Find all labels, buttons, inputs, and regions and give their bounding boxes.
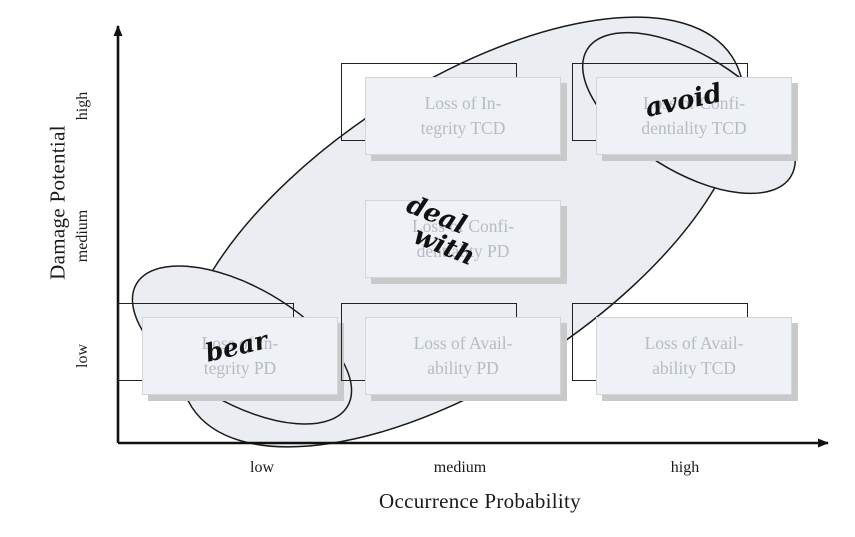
cell-label: Loss of In- tegrity TCD: [421, 91, 506, 142]
x-tick-low: low: [202, 459, 322, 477]
cell-face: Loss of In- tegrity TCD: [365, 77, 561, 155]
x-tick-high: high: [625, 459, 745, 477]
cell-face: Loss of Avail- ability TCD: [596, 317, 792, 395]
y-tick-medium: medium: [74, 191, 92, 281]
y-axis-title: Damage Potential: [46, 73, 71, 333]
y-tick-low: low: [74, 311, 92, 401]
x-tick-medium: medium: [400, 459, 520, 477]
y-tick-high: high: [74, 61, 92, 151]
cell-label: Loss of Avail- ability PD: [414, 331, 513, 382]
x-axis-title: Occurrence Probability: [180, 489, 780, 514]
risk-matrix-figure: Damage Potential Occurrence Probability …: [0, 0, 855, 537]
cell-label: Loss of Avail- ability TCD: [645, 331, 744, 382]
cell-face: Loss of Avail- ability PD: [365, 317, 561, 395]
